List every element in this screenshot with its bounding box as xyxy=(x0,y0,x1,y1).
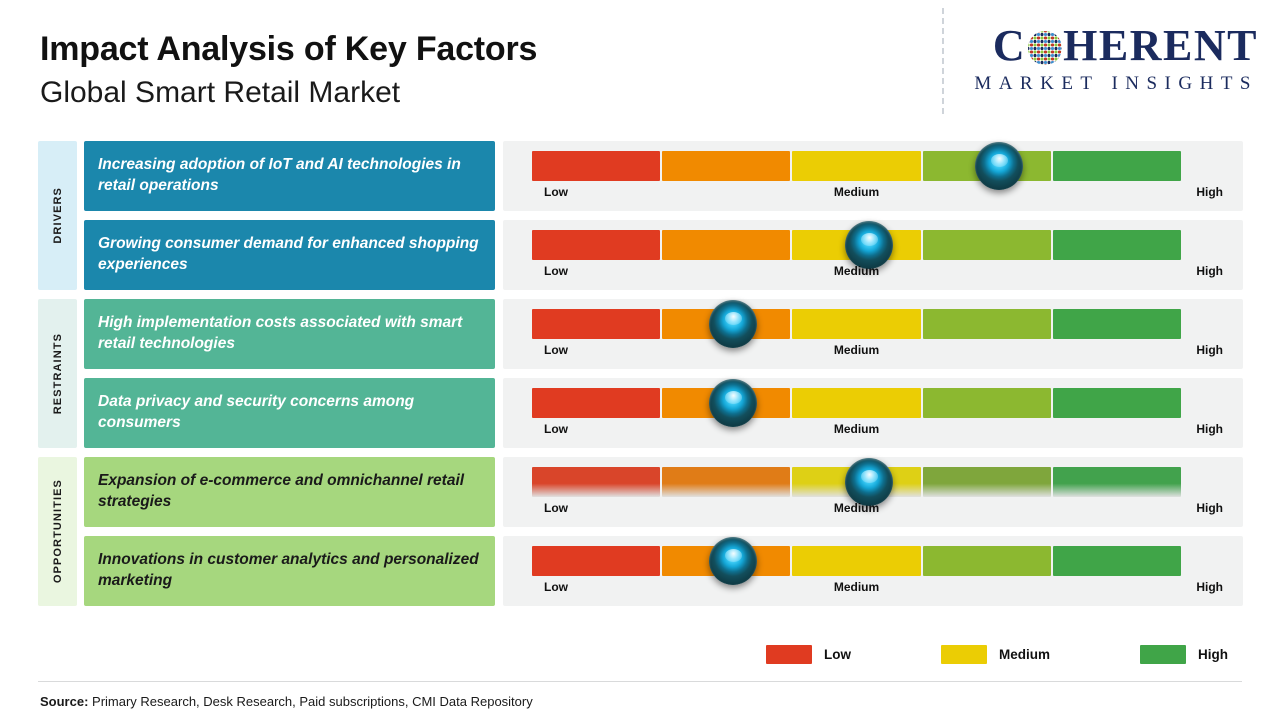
gauge-track xyxy=(532,546,1181,576)
factor-text: High implementation costs associated wit… xyxy=(98,313,481,355)
factor-row: Expansion of e-commerce and omnichannel … xyxy=(84,457,1243,527)
gauge-segment-4 xyxy=(923,388,1051,418)
gauge-label-medium: Medium xyxy=(834,343,879,357)
gauge-label-high: High xyxy=(1196,264,1223,278)
impact-gauge[interactable]: LowMediumHigh xyxy=(503,457,1243,527)
gauge-segment-5 xyxy=(1053,230,1181,260)
impact-legend: LowMediumHigh xyxy=(766,645,1228,664)
gauge-segment-4 xyxy=(923,467,1051,497)
gauge-label-high: High xyxy=(1196,422,1223,436)
logo-tagline: MARKET INSIGHTS xyxy=(968,73,1258,95)
legend-swatch xyxy=(941,645,987,664)
page-subtitle: Global Smart Retail Market xyxy=(40,75,537,111)
group-label-drivers: DRIVERS xyxy=(38,141,77,290)
factor-row: Data privacy and security concerns among… xyxy=(84,378,1243,448)
logo-word-herent: HERENT xyxy=(1063,24,1258,68)
legend-label: High xyxy=(1198,647,1228,662)
group-label-text: DRIVERS xyxy=(52,187,64,244)
factor-box[interactable]: Growing consumer demand for enhanced sho… xyxy=(84,220,495,290)
gauge-label-high: High xyxy=(1196,580,1223,594)
brand-logo: C HERENT MARKET INSIGHTS xyxy=(968,24,1258,95)
gauge-label-low: Low xyxy=(544,501,568,515)
factor-row: Growing consumer demand for enhanced sho… xyxy=(84,220,1243,290)
source-note: Source: Primary Research, Desk Research,… xyxy=(40,694,533,709)
gauge-segment-4 xyxy=(923,309,1051,339)
gauge-label-high: High xyxy=(1196,185,1223,199)
group-rows: Expansion of e-commerce and omnichannel … xyxy=(84,457,1243,606)
impact-marker[interactable] xyxy=(709,537,757,585)
factor-row: Increasing adoption of IoT and AI techno… xyxy=(84,141,1243,211)
gauge-track xyxy=(532,467,1181,497)
factor-box[interactable]: High implementation costs associated wit… xyxy=(84,299,495,369)
group-rows: Increasing adoption of IoT and AI techno… xyxy=(84,141,1243,290)
factor-text: Data privacy and security concerns among… xyxy=(98,392,481,434)
gauge-segment-1 xyxy=(532,388,660,418)
gauge-label-low: Low xyxy=(544,580,568,594)
gauge-segment-4 xyxy=(923,546,1051,576)
gauge-labels: LowMediumHigh xyxy=(532,185,1181,205)
gauge-segment-5 xyxy=(1053,151,1181,181)
factor-text: Increasing adoption of IoT and AI techno… xyxy=(98,155,481,197)
impact-marker[interactable] xyxy=(975,142,1023,190)
factor-group: RESTRAINTSHigh implementation costs asso… xyxy=(38,299,1243,448)
dotted-globe-icon xyxy=(1028,31,1062,65)
gauge-label-medium: Medium xyxy=(834,185,879,199)
group-label-text: RESTRAINTS xyxy=(52,333,64,414)
gauge-segment-1 xyxy=(532,546,660,576)
gauge-segment-2 xyxy=(662,467,790,497)
factor-group: OPPORTUNITIESExpansion of e-commerce and… xyxy=(38,457,1243,606)
group-label-opportunities: OPPORTUNITIES xyxy=(38,457,77,606)
gauge-labels: LowMediumHigh xyxy=(532,422,1181,442)
factor-text: Growing consumer demand for enhanced sho… xyxy=(98,234,481,276)
legend-swatch xyxy=(766,645,812,664)
gauge-label-low: Low xyxy=(544,422,568,436)
header-divider xyxy=(942,8,944,114)
gauge-segment-3 xyxy=(792,546,920,576)
group-label-restraints: RESTRAINTS xyxy=(38,299,77,448)
gauge-track xyxy=(532,388,1181,418)
impact-gauge[interactable]: LowMediumHigh xyxy=(503,378,1243,448)
title-block: Impact Analysis of Key Factors Global Sm… xyxy=(40,30,537,111)
impact-gauge[interactable]: LowMediumHigh xyxy=(503,536,1243,606)
factor-box[interactable]: Data privacy and security concerns among… xyxy=(84,378,495,448)
legend-label: Medium xyxy=(999,647,1050,662)
gauge-label-low: Low xyxy=(544,185,568,199)
gauge-segment-5 xyxy=(1053,388,1181,418)
gauge-segment-1 xyxy=(532,230,660,260)
impact-marker[interactable] xyxy=(709,300,757,348)
gauge-track xyxy=(532,230,1181,260)
factor-row: High implementation costs associated wit… xyxy=(84,299,1243,369)
gauge-label-high: High xyxy=(1196,501,1223,515)
impact-gauge[interactable]: LowMediumHigh xyxy=(503,141,1243,211)
impact-matrix: DRIVERSIncreasing adoption of IoT and AI… xyxy=(38,141,1243,615)
factor-box[interactable]: Increasing adoption of IoT and AI techno… xyxy=(84,141,495,211)
gauge-label-medium: Medium xyxy=(834,422,879,436)
gauge-labels: LowMediumHigh xyxy=(532,580,1181,600)
gauge-labels: LowMediumHigh xyxy=(532,501,1181,521)
factor-box[interactable]: Innovations in customer analytics and pe… xyxy=(84,536,495,606)
gauge-label-low: Low xyxy=(544,264,568,278)
gauge-segment-1 xyxy=(532,467,660,497)
gauge-track xyxy=(532,151,1181,181)
legend-label: Low xyxy=(824,647,851,662)
legend-swatch xyxy=(1140,645,1186,664)
impact-marker[interactable] xyxy=(709,379,757,427)
source-label: Source: xyxy=(40,694,88,709)
impact-marker[interactable] xyxy=(845,458,893,506)
logo-letter-c: C xyxy=(993,24,1026,68)
impact-gauge[interactable]: LowMediumHigh xyxy=(503,220,1243,290)
factor-text: Expansion of e-commerce and omnichannel … xyxy=(98,471,481,513)
gauge-labels: LowMediumHigh xyxy=(532,264,1181,284)
gauge-labels: LowMediumHigh xyxy=(532,343,1181,363)
gauge-track xyxy=(532,309,1181,339)
gauge-segment-2 xyxy=(662,151,790,181)
group-label-text: OPPORTUNITIES xyxy=(52,479,64,583)
impact-marker[interactable] xyxy=(845,221,893,269)
slide-root: Impact Analysis of Key Factors Global Sm… xyxy=(0,0,1280,720)
factor-box[interactable]: Expansion of e-commerce and omnichannel … xyxy=(84,457,495,527)
legend-item: High xyxy=(1140,645,1228,664)
impact-gauge[interactable]: LowMediumHigh xyxy=(503,299,1243,369)
page-title: Impact Analysis of Key Factors xyxy=(40,30,537,69)
gauge-label-medium: Medium xyxy=(834,501,879,515)
source-text: Primary Research, Desk Research, Paid su… xyxy=(88,694,532,709)
gauge-segment-1 xyxy=(532,309,660,339)
footer-divider xyxy=(38,681,1242,682)
gauge-label-medium: Medium xyxy=(834,264,879,278)
legend-item: Low xyxy=(766,645,851,664)
gauge-segment-2 xyxy=(662,230,790,260)
gauge-segment-1 xyxy=(532,151,660,181)
gauge-label-high: High xyxy=(1196,343,1223,357)
gauge-label-low: Low xyxy=(544,343,568,357)
factor-text: Innovations in customer analytics and pe… xyxy=(98,550,481,592)
legend-item: Medium xyxy=(941,645,1050,664)
factor-row: Innovations in customer analytics and pe… xyxy=(84,536,1243,606)
group-rows: High implementation costs associated wit… xyxy=(84,299,1243,448)
gauge-label-medium: Medium xyxy=(834,580,879,594)
logo-wordmark: C HERENT xyxy=(968,24,1258,68)
gauge-segment-5 xyxy=(1053,546,1181,576)
gauge-segment-3 xyxy=(792,388,920,418)
gauge-segment-3 xyxy=(792,309,920,339)
factor-group: DRIVERSIncreasing adoption of IoT and AI… xyxy=(38,141,1243,290)
gauge-segment-4 xyxy=(923,230,1051,260)
gauge-segment-3 xyxy=(792,151,920,181)
gauge-segment-5 xyxy=(1053,309,1181,339)
gauge-segment-5 xyxy=(1053,467,1181,497)
